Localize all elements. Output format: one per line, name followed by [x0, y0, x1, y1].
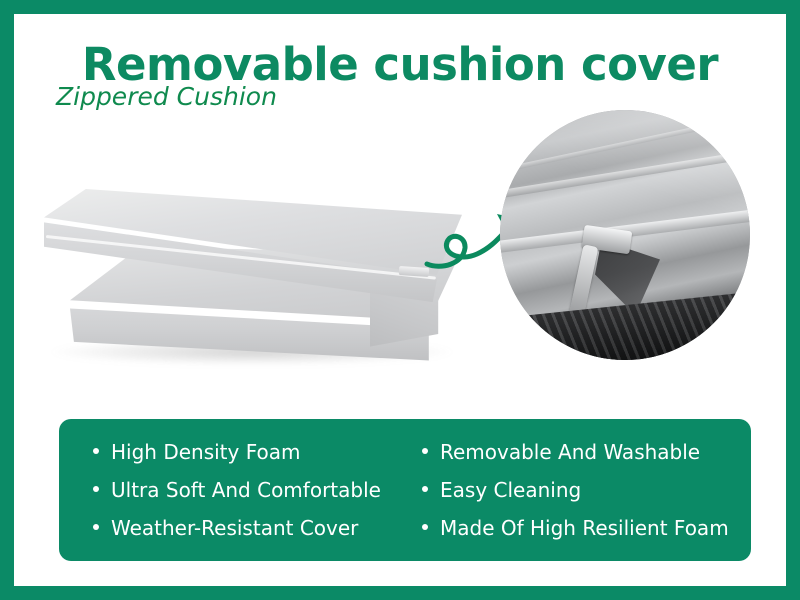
feature-label: Easy Cleaning	[440, 478, 581, 502]
features-left-column: High Density Foam Ultra Soft And Comfort…	[93, 440, 422, 540]
bullet-icon	[422, 524, 428, 530]
feature-label: Ultra Soft And Comfortable	[111, 478, 381, 502]
bullet-icon	[93, 524, 99, 530]
bullet-icon	[93, 448, 99, 454]
list-item: Ultra Soft And Comfortable	[93, 478, 422, 502]
list-item: Easy Cleaning	[422, 478, 751, 502]
bullet-icon	[422, 448, 428, 454]
callout-label: Zippered Cushion	[56, 82, 274, 111]
feature-label: High Density Foam	[111, 440, 300, 464]
features-right-column: Removable And Washable Easy Cleaning Mad…	[422, 440, 751, 540]
feature-label: Made Of High Resilient Foam	[440, 516, 729, 540]
product-image-cushion-stack	[22, 189, 472, 374]
poster-frame: Removable cushion cover	[0, 0, 800, 600]
cushion-top	[44, 189, 462, 307]
zipper-callout-circle	[500, 110, 750, 360]
list-item: Removable And Washable	[422, 440, 751, 464]
bullet-icon	[93, 486, 99, 492]
list-item: Made Of High Resilient Foam	[422, 516, 751, 540]
bullet-icon	[422, 486, 428, 492]
feature-label: Removable And Washable	[440, 440, 700, 464]
features-box: High Density Foam Ultra Soft And Comfort…	[59, 419, 751, 561]
list-item: Weather-Resistant Cover	[93, 516, 422, 540]
poster-canvas: Removable cushion cover	[14, 14, 786, 586]
feature-label: Weather-Resistant Cover	[111, 516, 358, 540]
list-item: High Density Foam	[93, 440, 422, 464]
